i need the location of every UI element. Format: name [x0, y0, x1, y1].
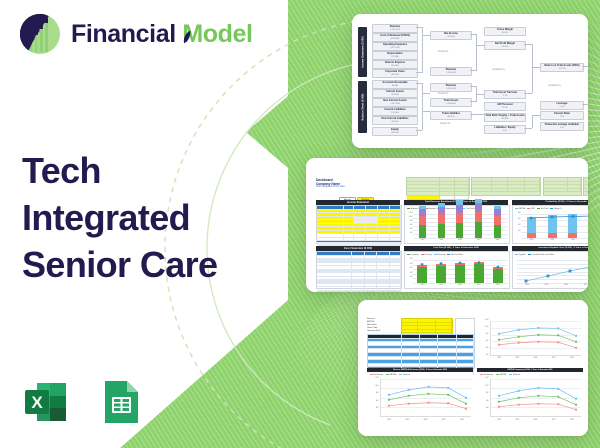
- dp-stage2-node: Net Income229,691: [430, 31, 472, 40]
- file-format-icons: X: [20, 376, 146, 428]
- dp-operator: multiplied by: [492, 69, 505, 71]
- investment-payback-chart: Payback Cumulative Free Cash Flow 1,2001…: [512, 251, 588, 289]
- core-financials-table: [316, 251, 402, 289]
- dashboard-title-block: Dashboard Company Name Tech Integrated S…: [316, 178, 345, 189]
- dp-input-node: Revenue1,512,003: [372, 24, 418, 33]
- gross-margin-comparison-chart: Net Income EBITDA Revenue 1,2001,000 800…: [477, 372, 583, 424]
- brand-logo[interactable]: Financial Model: [18, 12, 253, 56]
- bar-2027: [475, 199, 482, 238]
- dp-input-node: Equity845,319: [372, 127, 418, 136]
- plot-area: [490, 321, 581, 356]
- dp-stage3-node: Gross Margin46.3%: [484, 27, 526, 36]
- panel-header: Profitability ($ 000) - 5 Years to Decem…: [512, 200, 588, 205]
- trend-lines: [491, 379, 581, 415]
- leaf-accent-icon: [181, 29, 193, 45]
- plot-area: [521, 214, 588, 238]
- chart-legend: Net Income EBITDA Revenue: [480, 373, 582, 376]
- trends-data-table: [367, 334, 475, 369]
- yellow-input-block: [401, 318, 453, 335]
- dp-input-node: Non-Current Liabilities330,111: [372, 116, 418, 125]
- legend-item: Margin %: [550, 208, 561, 210]
- dp-input-node: Accounts Receivable94,805: [372, 80, 418, 89]
- dp-input-node: Operating Expenses(317,744): [372, 42, 418, 51]
- y-axis-labels: 1,2001,000 800600 400200: [477, 320, 489, 356]
- y-axis-labels: 1,2001,000800600400200-: [405, 213, 413, 238]
- x-axis-labels: 20242025 20262027 2028: [380, 419, 471, 423]
- y-axis-labels: 1,2001,000 800600 400-: [477, 378, 489, 417]
- legend-item: Revenue: [509, 374, 520, 376]
- legend-item: EBIT: [527, 208, 535, 210]
- legend-item: EBITDA: [496, 374, 506, 376]
- google-sheets-icon[interactable]: [94, 376, 146, 428]
- plot-area: [517, 260, 588, 283]
- trends-body: Revenue EBITDA Net Income Gross Profit O…: [363, 306, 583, 430]
- financial-model-circle-chart-logo: [18, 12, 62, 56]
- kpi-block: [543, 177, 582, 196]
- dp-operator: divided by: [438, 51, 448, 53]
- x-axis-labels: 2024 2025 2026 2027 2028: [413, 239, 507, 243]
- x-axis-labels: 2024 2025 2026 2027 2028: [517, 284, 588, 288]
- balance-sheet-band: Balance Sheet ($ 000): [358, 81, 367, 133]
- cash-summary-block: [471, 177, 541, 196]
- dupont-tree: Income Statement ($ 000) Balance Sheet (…: [358, 23, 583, 141]
- panel-header: Income Statement: [316, 200, 400, 205]
- assumptions-block: [406, 177, 470, 196]
- legend-item: Payback: [515, 254, 526, 256]
- dp-stage3-node: Net Profit Margin15.19%: [484, 41, 526, 50]
- x-axis-labels: 2024 2025 2026 2027 2028: [521, 239, 588, 243]
- plot-area: [380, 379, 471, 417]
- legend-item: Financing: [434, 254, 446, 256]
- revenue-ebitda-netincome-chart: Net Income EBITDA Revenue 1,2001,000 800…: [367, 372, 473, 424]
- bar-2024: [419, 206, 426, 238]
- dp-stage2-node: Revenue1,512,003: [430, 83, 472, 92]
- dp-stage3-node: Liabilities / Equity0.57: [484, 125, 526, 134]
- dp-input-node: Cost of Revenue (COGS)(811,668): [372, 33, 418, 42]
- trend-lines: [491, 321, 581, 353]
- x-axis-labels: 20242025 20262027 2028: [490, 419, 581, 423]
- page-title-line-3: Senior Care: [22, 242, 272, 289]
- dp-stage3-node: Total Asset Turnover1.14: [484, 90, 526, 99]
- microsoft-excel-icon[interactable]: X: [20, 376, 72, 428]
- dupont-analysis-diagram-screenshot[interactable]: Income Statement ($ 000) Balance Sheet (…: [352, 14, 588, 148]
- chart-legend: Net Income EBITDA Revenue: [370, 373, 472, 376]
- ebitda-comparison-chart: 1,2001,000 800600 400200: [477, 318, 583, 362]
- dp-stage2-node: Total Liabilities485,125: [430, 111, 472, 120]
- poster-canvas: Financial Model Tech Integrated Senior C…: [0, 0, 600, 448]
- trend-charts-screenshot[interactable]: Revenue EBITDA Net Income Gross Profit O…: [358, 300, 588, 436]
- bar-2026: [456, 200, 463, 238]
- page-title-line-2: Integrated: [22, 195, 272, 242]
- legend-item: Net Cash Flow: [447, 254, 463, 256]
- legend-item: Net Income: [480, 374, 493, 376]
- x-axis-labels: 20242025 20262027 2028: [490, 357, 581, 361]
- side-values-block: [455, 318, 475, 335]
- bar-2025: [438, 203, 445, 238]
- legend-item: EBITDA: [515, 208, 525, 210]
- svg-text:X: X: [31, 393, 43, 412]
- total-revenues-breakdown-chart: Assisted Living Memory Care Independent …: [404, 205, 510, 244]
- x-axis-labels: 2024 2025 2026 2027 2028: [413, 284, 507, 288]
- y-axis-labels: 900700500300100-: [405, 259, 413, 283]
- financial-dashboard-screenshot[interactable]: Dashboard Company Name Tech Integrated S…: [306, 158, 588, 292]
- legend-item: Revenue: [399, 374, 410, 376]
- chart-legend: Operating Investing Financing Net Cash F…: [407, 253, 507, 256]
- chart-legend: EBITDA EBIT Net Profit Margin %: [515, 207, 588, 210]
- trend-row-labels: Revenue EBITDA Net Income Gross Profit O…: [367, 318, 380, 333]
- payback-line: [517, 260, 588, 283]
- dp-stage2-node: Total Assets1,330,444: [430, 98, 472, 107]
- legend-item: Investing: [421, 254, 432, 256]
- page-title-line-1: Tech: [22, 148, 272, 195]
- dp-operator: divided by: [440, 123, 450, 125]
- dp-operator: divided by: [438, 93, 448, 95]
- panel-header: Core Financials ($ 000): [316, 246, 400, 251]
- stacked-bars: [413, 214, 507, 238]
- dp-stage4-node: Financial Leverage multiplier1.57: [540, 122, 584, 131]
- trend-lines: [381, 379, 471, 415]
- income-statement-table: [316, 205, 402, 244]
- legend-item: Net Profit: [537, 208, 548, 210]
- legend-item: Cumulative Free Cash Flow: [528, 254, 554, 256]
- net-cash-markers: [413, 260, 507, 281]
- dashboard-company-link[interactable]: Tech Integrated Senior Care: [316, 186, 345, 189]
- legend-item: EBITDA: [386, 374, 396, 376]
- legend-item: Net Income: [370, 374, 383, 376]
- cash-flow-chart: Operating Investing Financing Net Cash F…: [404, 251, 510, 289]
- dp-stage2-node: Revenue1,512,003: [430, 67, 472, 76]
- income-statement-band: Income Statement ($ 000): [358, 27, 367, 77]
- dp-input-node: Current Assets312,996: [372, 89, 418, 98]
- dashboard-body: Dashboard Company Name Tech Integrated S…: [311, 164, 583, 286]
- dp-input-node: Interest Expense(19,440): [372, 60, 418, 69]
- y-axis-labels: 800600400200-: [513, 213, 521, 238]
- brand-name-part1: Financial: [71, 20, 176, 48]
- brand-wordmark: Financial Model: [71, 22, 253, 47]
- dp-input-node: Depreciation(71,386): [372, 51, 418, 60]
- panel-header: Cash Flow ($ 000) - 5 Years to December …: [404, 246, 508, 251]
- legend-item: Operating: [407, 254, 419, 256]
- profitability-chart: EBITDA EBIT Net Profit Margin % 80060040…: [512, 205, 588, 244]
- dp-stage3-node: A/R Turnover15.95: [484, 102, 526, 111]
- dp-stage4-node: Leverage1.574: [540, 101, 584, 110]
- margin-line: [521, 214, 588, 238]
- dp-input-node: Non-Current Assets1,017,448: [372, 98, 418, 107]
- plot-area: [413, 214, 507, 238]
- dp-operator: multiplied by: [548, 85, 561, 87]
- dp-input-node: Current Liabilities155,014: [372, 107, 418, 116]
- key-metrics-block: [583, 177, 588, 196]
- plot-area: [413, 260, 507, 283]
- bar-2028: [494, 206, 501, 238]
- page-title: Tech Integrated Senior Care: [22, 148, 272, 288]
- y-axis-labels: 1,2001,000 800600 400-: [367, 378, 379, 417]
- chart-legend: Payback Cumulative Free Cash Flow: [515, 253, 588, 256]
- dp-stage4-node: Current Ratio2.02: [540, 111, 584, 120]
- dp-stage4-node: Return on Total Assets (ROA)17.27%: [540, 63, 584, 72]
- dp-stage3-node: Total Debt / Equity + Total Assets36.46%: [484, 113, 526, 122]
- panel-header: Investment Payback Chart ($ 000) - 5 Yea…: [512, 246, 588, 251]
- plot-area: [490, 379, 581, 417]
- dp-input-node: Corporate Taxes(62,074): [372, 69, 418, 78]
